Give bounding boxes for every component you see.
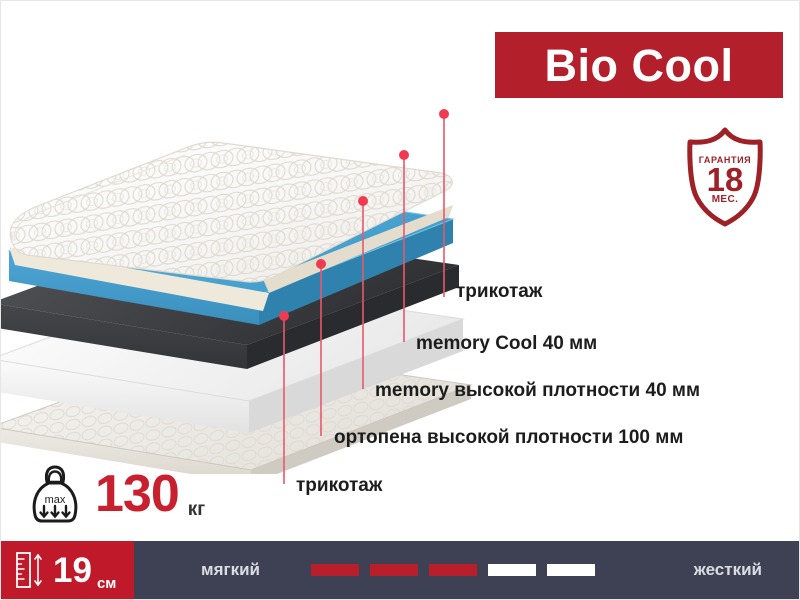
height-value: 19 bbox=[53, 553, 92, 588]
product-title: Bio Cool bbox=[545, 43, 734, 88]
firmness-segment-5 bbox=[547, 564, 595, 576]
firmness-segment-1 bbox=[311, 564, 359, 576]
max-load-icon-caption: max bbox=[45, 494, 66, 506]
layer-label-5: трикотаж bbox=[296, 476, 382, 495]
firmness-scale: мягкий жесткий bbox=[134, 541, 800, 599]
layer-label-4: ортопена высокой плотности 100 мм bbox=[334, 428, 683, 447]
height-unit: см bbox=[97, 575, 116, 592]
ruler-icon bbox=[15, 550, 45, 590]
layer-label-1: трикотаж bbox=[456, 282, 542, 301]
height-indicator: 19 см bbox=[1, 541, 134, 599]
firmness-segment-2 bbox=[370, 564, 418, 576]
max-load-indicator: max 130 кг bbox=[27, 463, 205, 525]
firmness-segment-3 bbox=[429, 564, 477, 576]
firmness-segments bbox=[311, 564, 595, 576]
product-infographic: трикотаж memory Cool 40 мм memory высоко… bbox=[0, 0, 800, 600]
layer-label-2: memory Cool 40 мм bbox=[416, 334, 597, 353]
max-load-value: 130 bbox=[95, 468, 179, 520]
firmness-segment-4 bbox=[488, 564, 536, 576]
layer-label-3: memory высокой плотности 40 мм bbox=[375, 381, 700, 400]
bottom-spec-bar: 19 см мягкий жесткий bbox=[1, 541, 800, 599]
kettlebell-icon: max bbox=[27, 463, 83, 525]
shield-icon bbox=[673, 125, 777, 229]
firmness-soft-label: мягкий bbox=[201, 560, 260, 580]
firmness-hard-label: жесткий bbox=[694, 560, 762, 580]
max-load-unit: кг bbox=[188, 499, 205, 521]
mattress-cutaway-illustration bbox=[1, 29, 501, 474]
guarantee-badge: ГАРАНТИЯ 18 МЕС. bbox=[673, 125, 777, 229]
product-title-banner: Bio Cool bbox=[495, 32, 783, 98]
